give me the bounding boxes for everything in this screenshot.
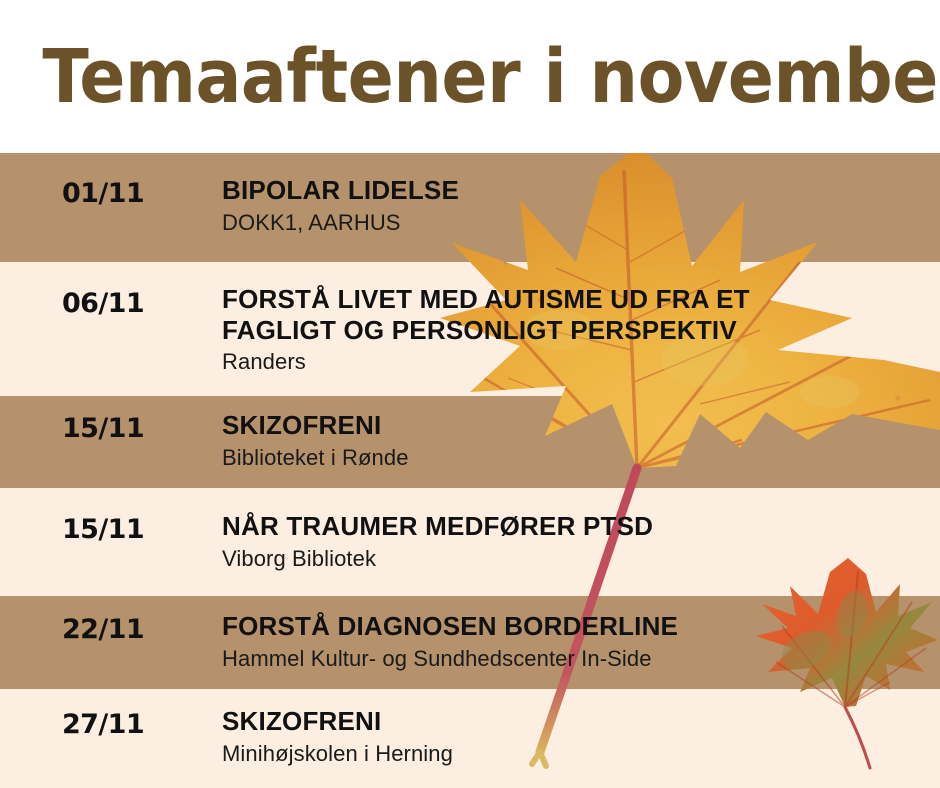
schedule-list: 01/11 BIPOLAR LIDELSE DOKK1, AARHUS 06/1…	[0, 153, 940, 788]
row-venue: Hammel Kultur- og Sundhedscenter In-Side	[222, 646, 934, 672]
schedule-row: 15/11 NÅR TRAUMER MEDFØRER PTSD Viborg B…	[0, 488, 940, 596]
page-title: Temaaftener i november	[0, 40, 940, 114]
schedule-row: 22/11 FORSTÅ DIAGNOSEN BORDERLINE Hammel…	[0, 596, 940, 689]
schedule-row: 01/11 BIPOLAR LIDELSE DOKK1, AARHUS	[0, 153, 940, 262]
row-date: 15/11	[62, 514, 144, 545]
header-bar: Temaaftener i november	[0, 0, 940, 153]
schedule-row: 27/11 SKIZOFRENI Minihøjskolen i Herning	[0, 689, 940, 788]
row-title: SKIZOFRENI	[222, 706, 934, 737]
row-date: 15/11	[62, 413, 144, 444]
row-body: BIPOLAR LIDELSE DOKK1, AARHUS	[222, 175, 934, 236]
row-body: SKIZOFRENI Biblioteket i Rønde	[222, 410, 934, 471]
row-title: FORSTÅ LIVET MED AUTISME UD FRA ET FAGLI…	[222, 284, 934, 345]
row-body: SKIZOFRENI Minihøjskolen i Herning	[222, 706, 934, 767]
row-body: NÅR TRAUMER MEDFØRER PTSD Viborg Bibliot…	[222, 511, 934, 572]
row-date: 27/11	[62, 709, 144, 740]
row-venue: Viborg Bibliotek	[222, 546, 934, 572]
schedule-row: 06/11 FORSTÅ LIVET MED AUTISME UD FRA ET…	[0, 262, 940, 396]
row-venue: Randers	[222, 349, 934, 375]
row-title: FORSTÅ DIAGNOSEN BORDERLINE	[222, 611, 934, 642]
row-title: NÅR TRAUMER MEDFØRER PTSD	[222, 511, 934, 542]
row-body: FORSTÅ DIAGNOSEN BORDERLINE Hammel Kultu…	[222, 611, 934, 672]
row-venue: DOKK1, AARHUS	[222, 210, 934, 236]
row-title: SKIZOFRENI	[222, 410, 934, 441]
row-date: 22/11	[62, 614, 144, 645]
row-date: 01/11	[62, 178, 144, 209]
poster-canvas: Temaaftener i november 01/11 BIPOLAR LID…	[0, 0, 940, 788]
row-venue: Biblioteket i Rønde	[222, 445, 934, 471]
row-body: FORSTÅ LIVET MED AUTISME UD FRA ET FAGLI…	[222, 284, 934, 376]
row-date: 06/11	[62, 288, 144, 319]
row-title: BIPOLAR LIDELSE	[222, 175, 934, 206]
row-venue: Minihøjskolen i Herning	[222, 741, 934, 767]
schedule-row: 15/11 SKIZOFRENI Biblioteket i Rønde	[0, 396, 940, 488]
